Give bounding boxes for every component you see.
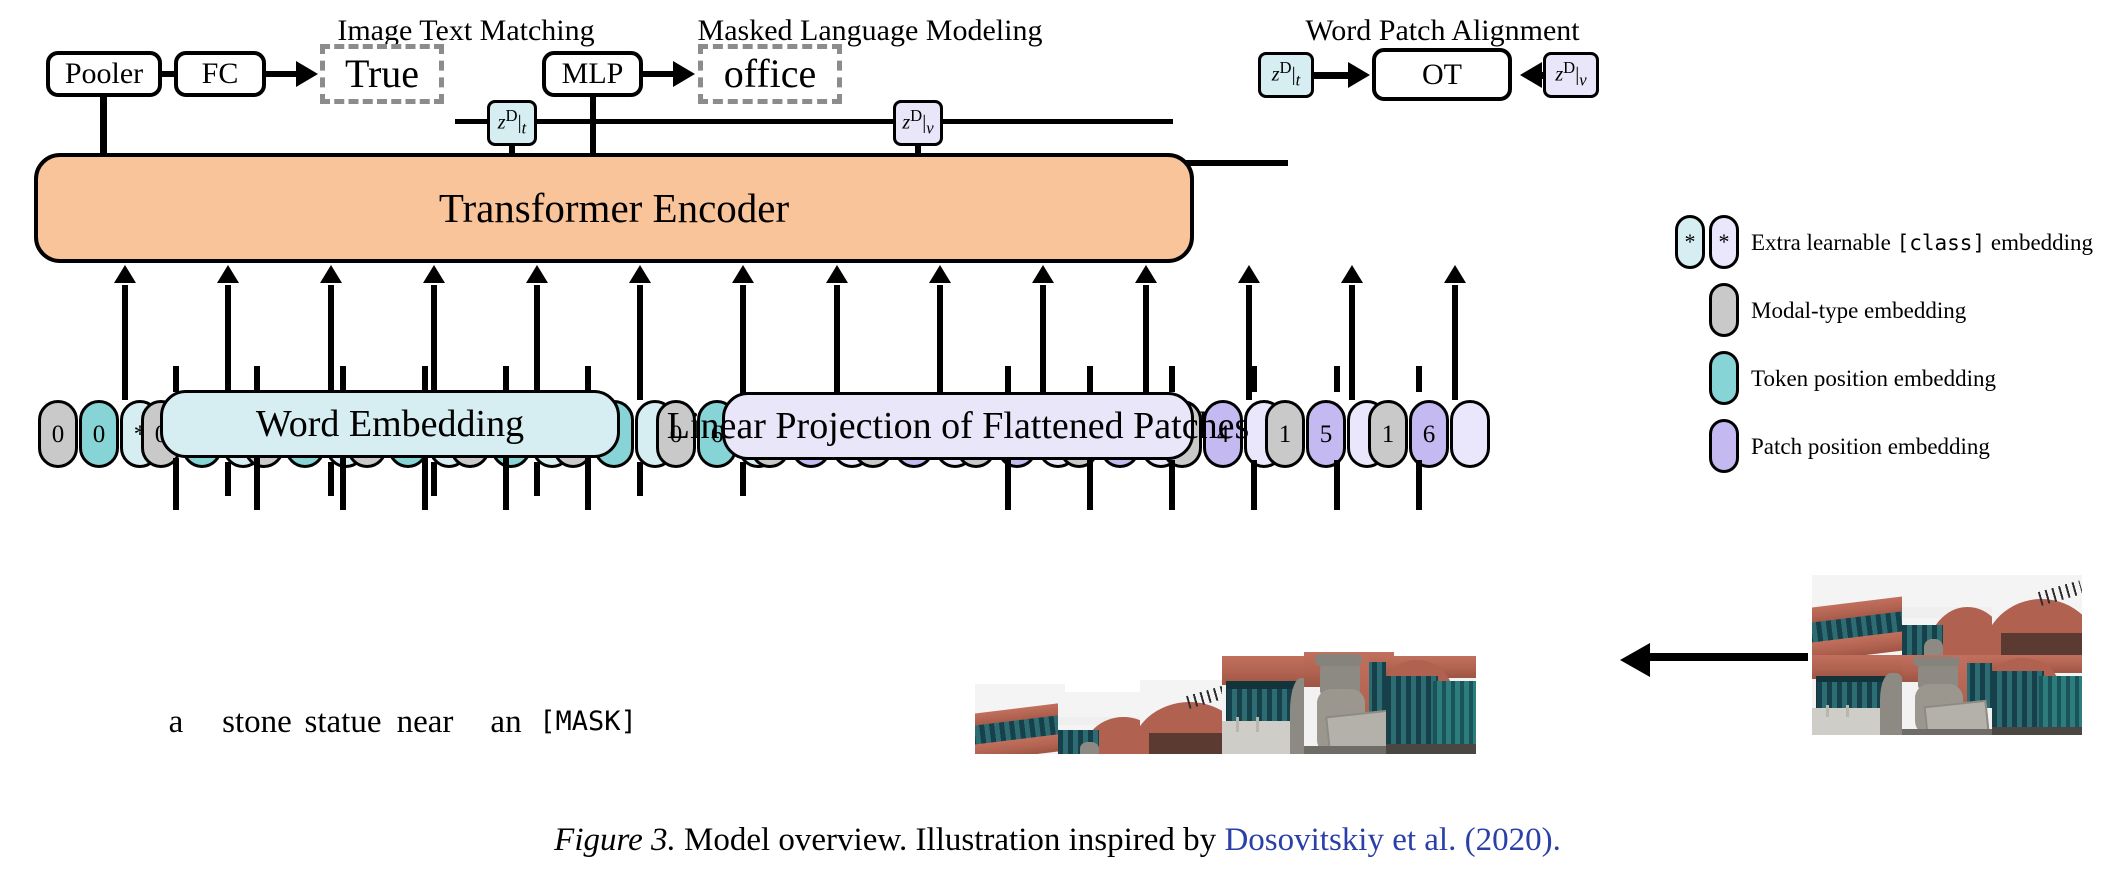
z-image-marker: zD|v — [893, 100, 943, 146]
legend-class-pill-image: * — [1709, 215, 1739, 269]
image-patch-4 — [1304, 652, 1394, 754]
legend-label-token: Token position embedding — [1751, 366, 1996, 392]
z-text-marker: zD|t — [487, 100, 537, 146]
caption-figure-label: Figure 3. — [554, 822, 676, 858]
caption-year: (2020). — [1456, 822, 1560, 858]
legend-class-text-pre: Extra learnable — [1751, 230, 1897, 255]
legend-label-class: Extra learnable [class] embedding — [1751, 230, 2093, 256]
source-image-cell-2 — [1992, 575, 2082, 655]
z-image-marker-label: zD|v — [902, 108, 933, 137]
figure-canvas: Image Text Matching Masked Language Mode… — [0, 0, 2115, 873]
z-text-marker-label: zD|t — [498, 108, 526, 137]
image-patch-3 — [1222, 656, 1312, 754]
source-image-arrow-line — [1648, 653, 1808, 661]
figure-caption: Figure 3. Model overview. Illustration i… — [0, 822, 2115, 859]
legend: **Extra learnable [class] embeddingModal… — [1675, 215, 2105, 505]
source-image-cell-5 — [1992, 655, 2082, 735]
image-patch-5 — [1386, 656, 1476, 754]
legend-pill-modal — [1709, 283, 1739, 337]
legend-class-text-post: embedding — [1985, 230, 2093, 255]
source-image-arrowhead — [1620, 643, 1650, 677]
legend-pill-token — [1709, 351, 1739, 405]
legend-class-token: [class] — [1897, 231, 1986, 255]
image-patch-0 — [975, 684, 1065, 754]
legend-class-pill-text: * — [1675, 215, 1705, 269]
caption-body: Model overview. Illustration inspired by — [676, 822, 1225, 858]
source-image — [1812, 575, 2082, 735]
legend-pill-patch — [1709, 419, 1739, 473]
source-image-cell-4 — [1902, 655, 1992, 735]
image-patch-2 — [1140, 680, 1230, 754]
legend-label-modal: Modal-type embedding — [1751, 298, 1966, 324]
image-patch-1 — [1058, 692, 1148, 754]
caption-citation: Dosovitskiy et al. — [1224, 822, 1456, 858]
source-image-cell-1 — [1902, 575, 1992, 655]
source-image-cell-3 — [1812, 655, 1902, 735]
source-image-cell-0 — [1812, 575, 1902, 655]
legend-label-patch: Patch position embedding — [1751, 434, 1990, 460]
